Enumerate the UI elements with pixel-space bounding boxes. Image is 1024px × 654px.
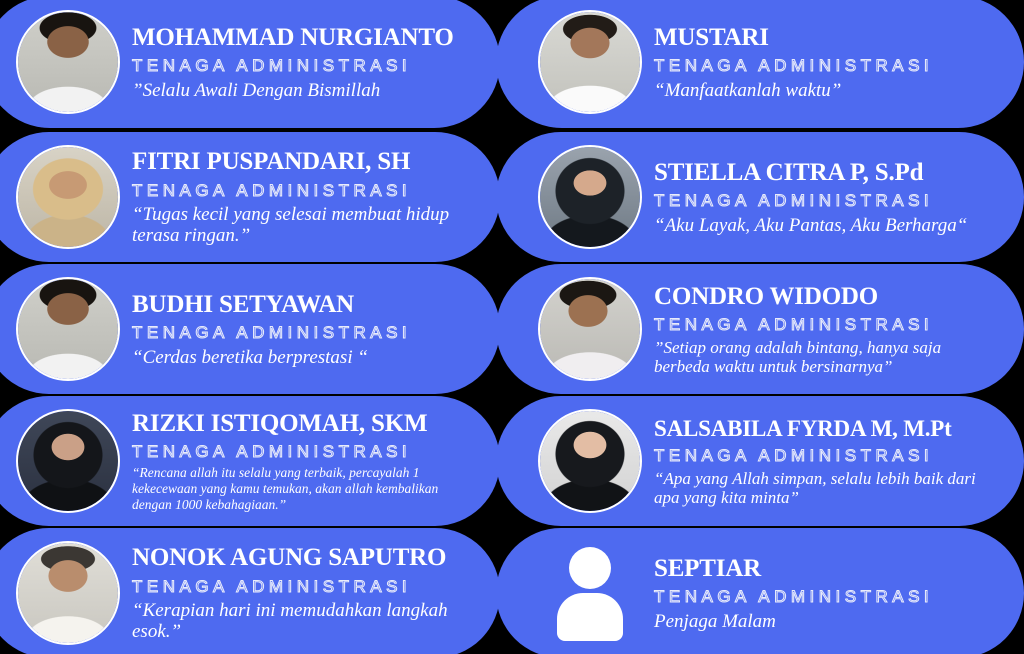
- staff-card[interactable]: NONOK AGUNG SAPUTRO TENAGA ADMINISTRASI …: [0, 528, 500, 654]
- staff-info: CONDRO WIDODO TENAGA ADMINISTRASI ”Setia…: [654, 282, 1024, 377]
- avatar-photo: [540, 147, 640, 247]
- staff-info: MUSTARI TENAGA ADMINISTRASI “Manfaatkanl…: [654, 23, 1024, 101]
- avatar: [16, 10, 120, 114]
- staff-role: TENAGA ADMINISTRASI: [654, 443, 998, 469]
- staff-role: TENAGA ADMINISTRASI: [132, 574, 474, 600]
- staff-quote: Penjaga Malam: [654, 611, 998, 632]
- avatar: [16, 409, 120, 513]
- staff-role: TENAGA ADMINISTRASI: [132, 320, 474, 346]
- staff-directory-board: MOHAMMAD NURGIANTO TENAGA ADMINISTRASI ”…: [0, 0, 1024, 654]
- staff-quote: “Aku Layak, Aku Pantas, Aku Berharga“: [654, 215, 998, 236]
- staff-quote: “Kerapian hari ini memudahkan langkah es…: [132, 600, 474, 643]
- avatar-photo: [540, 411, 640, 511]
- staff-quote: ”Selalu Awali Dengan Bismillah: [132, 80, 474, 101]
- avatar-photo: [540, 12, 640, 112]
- staff-card[interactable]: MOHAMMAD NURGIANTO TENAGA ADMINISTRASI ”…: [0, 0, 500, 128]
- staff-name: STIELLA CITRA P, S.Pd: [654, 160, 998, 186]
- staff-name: FITRI PUSPANDARI, SH: [132, 149, 474, 175]
- person-placeholder-head: [569, 547, 611, 589]
- staff-info: FITRI PUSPANDARI, SH TENAGA ADMINISTRASI…: [132, 147, 500, 246]
- staff-info: STIELLA CITRA P, S.Pd TENAGA ADMINISTRAS…: [654, 158, 1024, 236]
- staff-card[interactable]: FITRI PUSPANDARI, SH TENAGA ADMINISTRASI…: [0, 132, 500, 262]
- staff-name: BUDHI SETYAWAN: [132, 292, 474, 318]
- avatar: [538, 145, 642, 249]
- staff-info: MOHAMMAD NURGIANTO TENAGA ADMINISTRASI ”…: [132, 23, 500, 101]
- staff-name: NONOK AGUNG SAPUTRO: [132, 545, 474, 571]
- staff-info: RIZKI ISTIQOMAH, SKM TENAGA ADMINISTRASI…: [132, 409, 500, 514]
- staff-role: TENAGA ADMINISTRASI: [132, 178, 474, 204]
- staff-card[interactable]: RIZKI ISTIQOMAH, SKM TENAGA ADMINISTRASI…: [0, 396, 500, 526]
- staff-info: SEPTIAR TENAGA ADMINISTRASI Penjaga Mala…: [654, 554, 1024, 632]
- avatar-photo: [18, 12, 118, 112]
- staff-name: RIZKI ISTIQOMAH, SKM: [132, 411, 474, 437]
- avatar: [538, 409, 642, 513]
- avatar-photo: [18, 543, 118, 643]
- staff-info: BUDHI SETYAWAN TENAGA ADMINISTRASI “Cerd…: [132, 290, 500, 368]
- staff-name: SALSABILA FYRDA M, M.Pt: [654, 417, 998, 441]
- staff-quote: “Cerdas beretika berprestasi “: [132, 347, 474, 368]
- staff-card[interactable]: MUSTARI TENAGA ADMINISTRASI “Manfaatkanl…: [496, 0, 1024, 128]
- avatar-photo: [18, 147, 118, 247]
- staff-role: TENAGA ADMINISTRASI: [132, 53, 474, 79]
- staff-role: TENAGA ADMINISTRASI: [654, 584, 998, 610]
- avatar: [538, 277, 642, 381]
- staff-card[interactable]: SALSABILA FYRDA M, M.Pt TENAGA ADMINISTR…: [496, 396, 1024, 526]
- avatar-photo: [540, 279, 640, 379]
- staff-name: MOHAMMAD NURGIANTO: [132, 25, 474, 51]
- person-placeholder-icon: [538, 541, 642, 645]
- avatar: [538, 10, 642, 114]
- staff-card[interactable]: STIELLA CITRA P, S.Pd TENAGA ADMINISTRAS…: [496, 132, 1024, 262]
- staff-name: SEPTIAR: [654, 556, 998, 582]
- avatar: [16, 145, 120, 249]
- staff-card[interactable]: SEPTIAR TENAGA ADMINISTRASI Penjaga Mala…: [496, 528, 1024, 654]
- staff-role: TENAGA ADMINISTRASI: [132, 439, 474, 465]
- avatar-photo: [18, 279, 118, 379]
- staff-role: TENAGA ADMINISTRASI: [654, 53, 998, 79]
- staff-card[interactable]: BUDHI SETYAWAN TENAGA ADMINISTRASI “Cerd…: [0, 264, 500, 394]
- staff-quote: “Manfaatkanlah waktu”: [654, 80, 998, 101]
- staff-quote: “Apa yang Allah simpan, selalu lebih bai…: [654, 469, 998, 507]
- avatar-photo: [18, 411, 118, 511]
- staff-quote: ”Setiap orang adalah bintang, hanya saja…: [654, 338, 998, 376]
- staff-info: NONOK AGUNG SAPUTRO TENAGA ADMINISTRASI …: [132, 543, 500, 642]
- avatar: [16, 541, 120, 645]
- person-placeholder-body: [557, 593, 623, 641]
- staff-name: MUSTARI: [654, 25, 998, 51]
- staff-info: SALSABILA FYRDA M, M.Pt TENAGA ADMINISTR…: [654, 415, 1024, 508]
- staff-name: CONDRO WIDODO: [654, 284, 998, 310]
- staff-role: TENAGA ADMINISTRASI: [654, 188, 998, 214]
- avatar: [16, 277, 120, 381]
- staff-card[interactable]: CONDRO WIDODO TENAGA ADMINISTRASI ”Setia…: [496, 264, 1024, 394]
- staff-quote: “Rencana allah itu selalu yang terbaik, …: [132, 465, 474, 513]
- staff-role: TENAGA ADMINISTRASI: [654, 312, 998, 338]
- staff-quote: “Tugas kecil yang selesai membuat hidup …: [132, 204, 474, 247]
